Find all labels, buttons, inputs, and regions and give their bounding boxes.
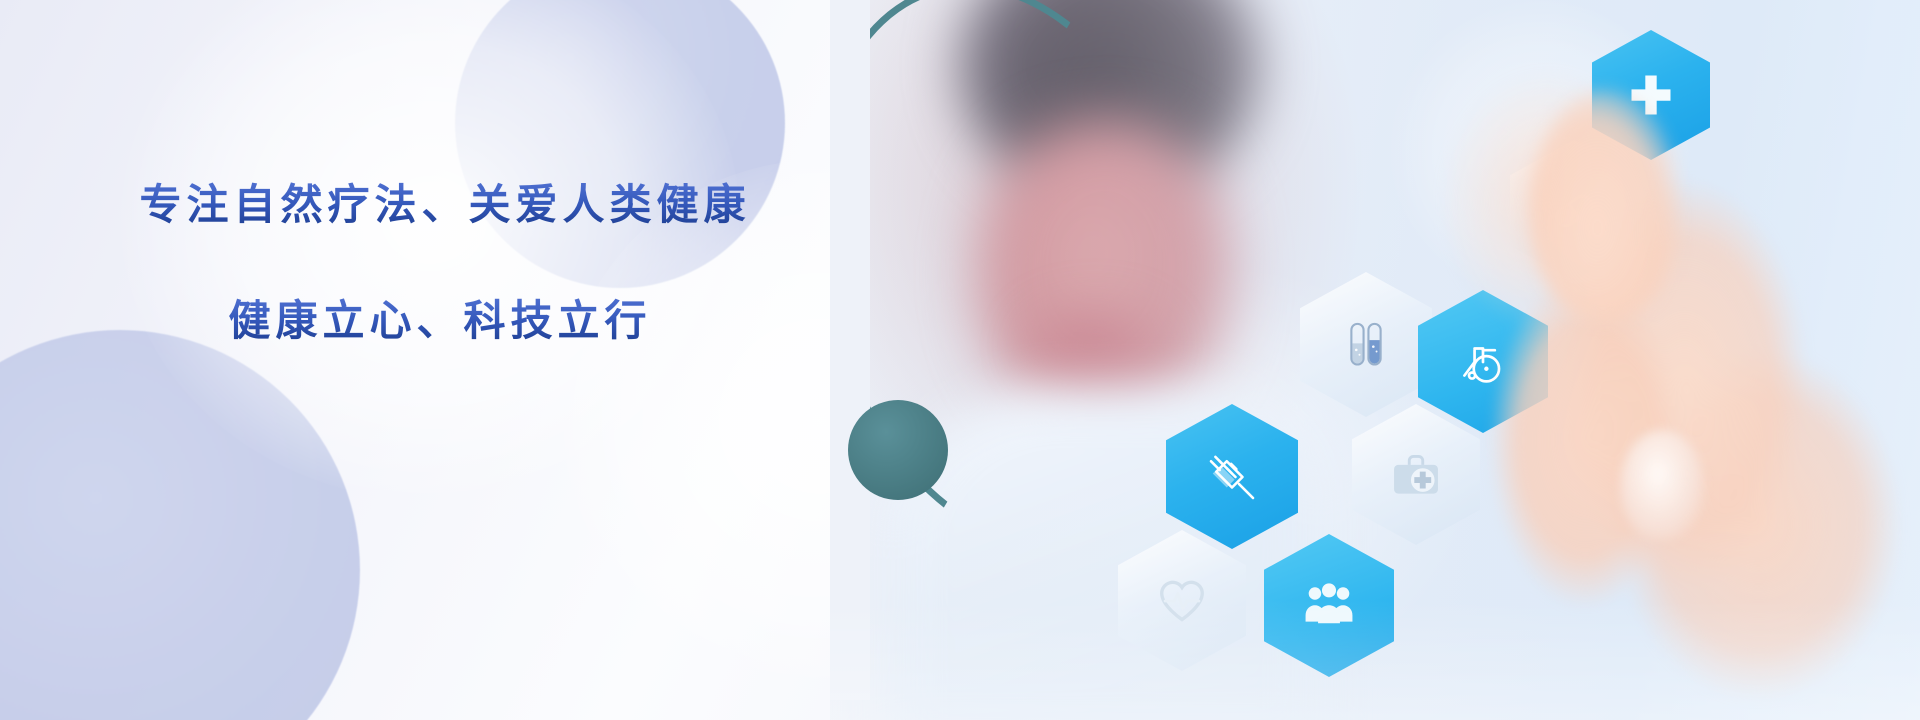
medical-bag-icon[interactable] (1352, 404, 1480, 545)
index-finger (1530, 90, 1680, 320)
headline-block: 专注自然疗法、关爱人类健康 健康立心、科技立行 (0, 182, 880, 344)
bottom-fade (830, 600, 1920, 720)
hero-banner: 专注自然疗法、关爱人类健康 健康立心、科技立行 (0, 0, 1920, 720)
thumb-nail (1620, 430, 1704, 540)
syringe-icon-glyph (1204, 449, 1260, 505)
syringe-icon[interactable] (1166, 404, 1298, 549)
test-tubes-icon-glyph (1340, 317, 1392, 373)
medical-bag-icon-glyph (1389, 448, 1443, 502)
wheelchair-icon[interactable] (1418, 290, 1548, 433)
wheelchair-icon-glyph (1456, 335, 1510, 389)
hero-photo (830, 0, 1920, 720)
headline-line-2: 健康立心、科技立行 (228, 298, 651, 344)
test-tubes-icon[interactable] (1300, 272, 1432, 417)
headline-line-1: 专注自然疗法、关爱人类健康 (139, 182, 750, 228)
